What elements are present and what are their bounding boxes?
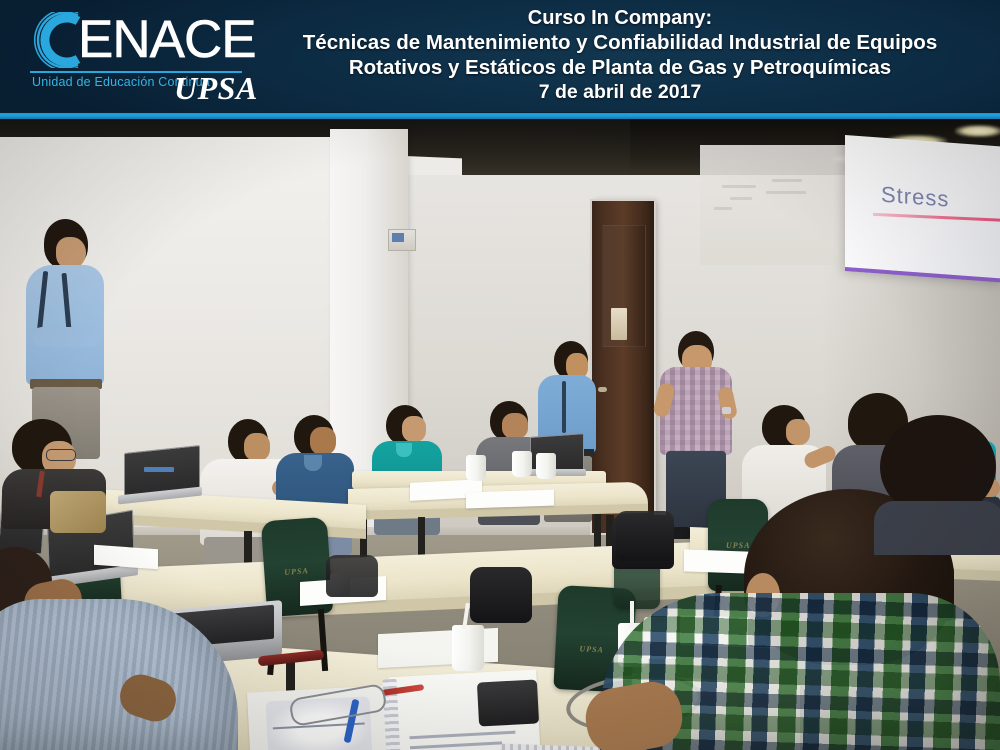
chair-logo-upsa: UPSA (284, 566, 309, 577)
event-banner: ENACE Unidad de Educación Continua UPSA … (0, 0, 1000, 750)
slide-title: Stress (881, 182, 949, 213)
laptop-lid-badge (144, 467, 174, 472)
foreground-left-torso (0, 599, 238, 750)
phone-dark (477, 679, 539, 726)
slide-accent-rule (873, 213, 1000, 222)
bag-under-table (326, 555, 378, 597)
classroom-photo: Stress (0, 119, 1000, 750)
cup-foam (512, 451, 532, 477)
title-line-2: Técnicas de Mantenimiento y Confiabilida… (303, 30, 937, 55)
door-knob (598, 387, 607, 392)
cenace-c-arcs-icon (28, 12, 82, 68)
projection-screen: Stress (845, 135, 1000, 283)
backpack-left (470, 567, 532, 623)
cup-foam (452, 625, 484, 671)
event-title-block: Curso In Company: Técnicas de Mantenimie… (240, 3, 1000, 111)
title-line-4-date: 7 de abril de 2017 (539, 80, 702, 105)
logo-wordmark: ENACE (28, 12, 256, 68)
whiteboard (700, 145, 850, 265)
person-seated-left-glasses (2, 419, 118, 559)
person-foreground-left (0, 547, 270, 750)
accent-stripe (0, 112, 1000, 119)
header-banner: ENACE Unidad de Educación Continua UPSA … (0, 0, 1000, 112)
ceiling-light-2 (955, 125, 1000, 137)
title-line-1: Curso In Company: (528, 6, 712, 30)
logo-text-enace: ENACE (78, 13, 256, 66)
wall-panel-icon (388, 229, 416, 251)
eyeglasses-icon (46, 449, 76, 461)
person-foreground-right-2 (880, 415, 1000, 555)
cenace-upsa-logo: ENACE Unidad de Educación Continua UPSA (28, 12, 268, 104)
cup-foam (536, 453, 556, 479)
door-plate (611, 308, 627, 340)
cup-foam (466, 455, 486, 481)
paper-sheet (466, 489, 554, 508)
title-line-3: Rotativos y Estáticos de Planta de Gas y… (349, 55, 891, 80)
